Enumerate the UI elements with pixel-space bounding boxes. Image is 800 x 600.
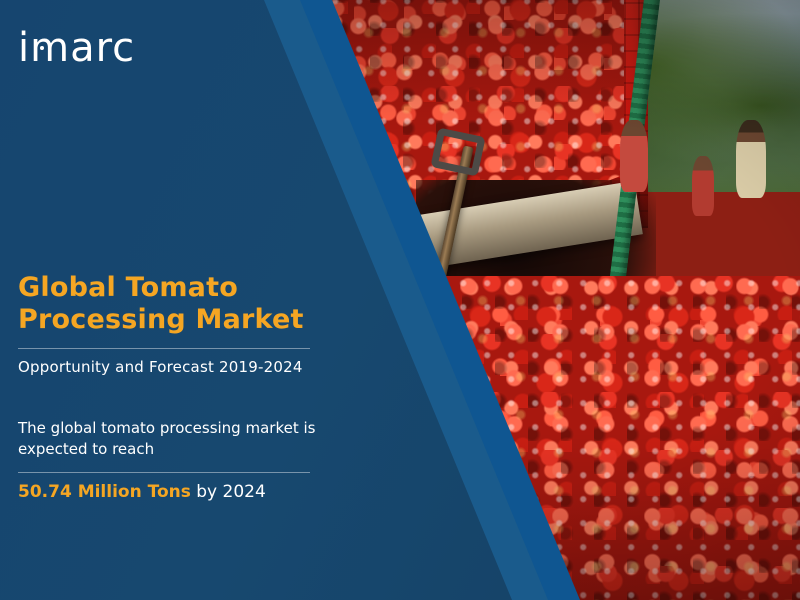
headline-block: Global Tomato Processing Market Opportun… [18,272,318,376]
title-line-2: Processing Market [18,304,304,335]
title-line-1: Global Tomato [18,272,238,303]
marketing-banner: imarc Global Tomato Processing Market Op… [0,0,800,600]
page-title: Global Tomato Processing Market [18,272,318,337]
page-subtitle: Opportunity and Forecast 2019-2024 [18,358,318,376]
content-layer: imarc Global Tomato Processing Market Op… [0,0,800,600]
imarc-logo[interactable]: imarc [18,28,135,68]
logo-dot-icon [40,46,44,50]
statistic-line: 50.74 Million Tons by 2024 [18,482,318,502]
title-divider [18,348,310,349]
statistic-suffix: by 2024 [191,482,266,502]
logo-wordmark: imarc [18,25,135,71]
statistic-block: The global tomato processing market is e… [18,418,318,502]
statistic-value: 50.74 Million Tons [18,482,191,502]
statistic-lead-text: The global tomato processing market is e… [18,418,318,461]
statistic-divider [18,472,310,473]
